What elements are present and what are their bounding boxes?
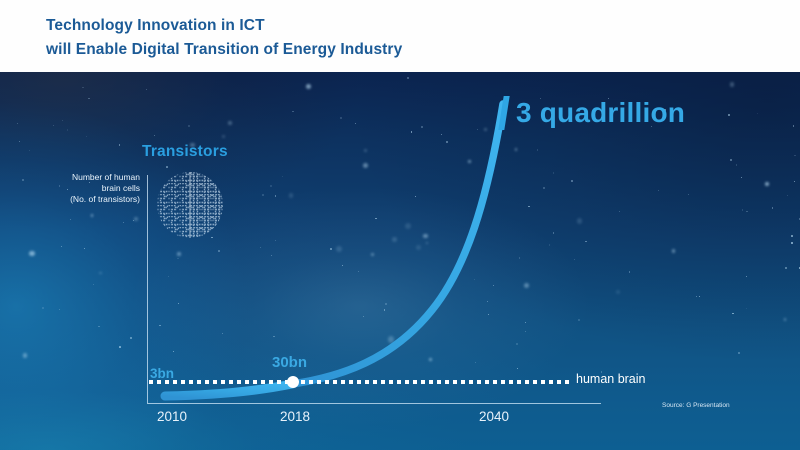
title-line-2: will Enable Digital Transition of Energy… <box>46 38 746 62</box>
source-note: Source: G Presentation <box>662 402 730 409</box>
data-point-marker-2018[interactable] <box>287 376 299 388</box>
slide-header: Technology Innovation in ICT will Enable… <box>0 0 800 72</box>
quadrillion-callout: 3 quadrillion <box>501 96 685 130</box>
page-title: Technology Innovation in ICT will Enable… <box>46 14 746 62</box>
data-label-30bn: 30bn <box>272 354 307 371</box>
data-label-3bn: 3bn <box>150 366 174 381</box>
x-tick-2010: 2010 <box>142 409 202 424</box>
title-line-1: Technology Innovation in ICT <box>46 17 265 34</box>
chart-panel: Number of human brain cells (No. of tran… <box>0 72 800 450</box>
human-brain-reference-line <box>149 380 571 384</box>
human-brain-label: human brain <box>576 372 646 386</box>
x-tick-2040: 2040 <box>464 409 524 424</box>
slide-canvas: Technology Innovation in ICT will Enable… <box>0 0 800 450</box>
data-label-quadrillion: 3 quadrillion <box>516 97 685 129</box>
x-tick-2018: 2018 <box>265 409 325 424</box>
